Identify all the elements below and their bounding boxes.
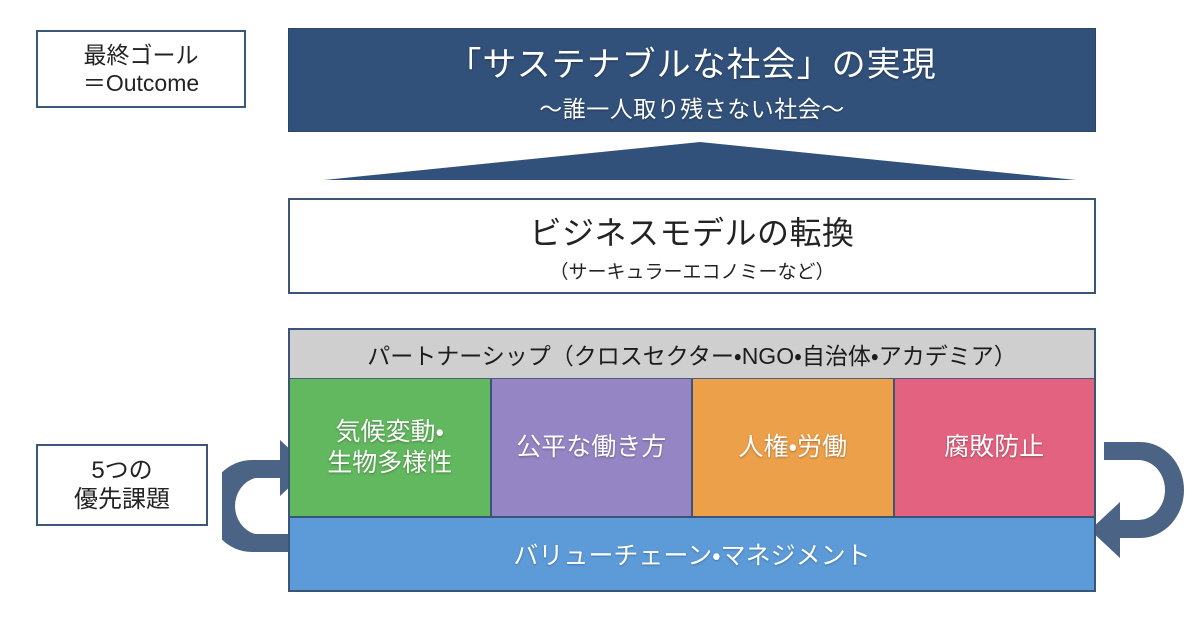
value-chain-label: バリューチェーン・マネジメント bbox=[513, 536, 870, 572]
goal-banner-subline: ～誰一人取り残さない社会～ bbox=[539, 90, 845, 124]
cycle-arrow-right-icon bbox=[1094, 424, 1184, 572]
five-priorities-label-line2: 優先課題 bbox=[74, 485, 170, 514]
priority-cell-line: 生物多様性 bbox=[327, 448, 452, 479]
goal-banner-headline: 「サステナブルな社会」の実現 bbox=[447, 37, 936, 86]
priority-cell-line: 気候変動・ bbox=[327, 417, 452, 448]
partnership-label: パートナーシップ（クロスセクター・NGO・自治体・アカデミア） bbox=[367, 337, 1016, 371]
five-priorities-label-line1: 5つの bbox=[91, 456, 152, 485]
priority-cell-climate-biodiversity[interactable]: 気候変動・ 生物多様性 bbox=[290, 379, 492, 516]
priority-cell-anti-corruption[interactable]: 腐敗防止 bbox=[895, 379, 1095, 516]
five-priorities-label: 5つの 優先課題 bbox=[36, 444, 208, 526]
value-chain-bar: バリューチェーン・マネジメント bbox=[290, 516, 1094, 590]
business-model-subline: （サーキュラーエコノミーなど） bbox=[549, 257, 834, 284]
partnership-bar: パートナーシップ（クロスセクター・NGO・自治体・アカデミア） bbox=[290, 330, 1094, 379]
final-goal-label-line1: 最終ゴール bbox=[84, 41, 199, 69]
goal-banner: 「サステナブルな社会」の実現 ～誰一人取り残さない社会～ bbox=[288, 28, 1096, 132]
priority-cell-line: 腐敗防止 bbox=[944, 432, 1044, 463]
diagram-canvas: 最終ゴール ＝Outcome 「サステナブルな社会」の実現 ～誰一人取り残さない… bbox=[0, 0, 1198, 643]
business-model-headline: ビジネスモデルの転換 bbox=[529, 208, 854, 254]
priority-cell-line: 公平な働き方 bbox=[516, 432, 666, 463]
final-goal-label: 最終ゴール ＝Outcome bbox=[36, 30, 246, 108]
up-chevron-icon bbox=[322, 140, 1078, 182]
priorities-block: パートナーシップ（クロスセクター・NGO・自治体・アカデミア） 気候変動・ 生物… bbox=[288, 328, 1096, 592]
business-model-box: ビジネスモデルの転換 （サーキュラーエコノミーなど） bbox=[288, 198, 1096, 294]
priority-row: 気候変動・ 生物多様性 公平な働き方 人権・労働 腐敗防止 bbox=[290, 379, 1094, 516]
priority-cell-line: 人権・労働 bbox=[738, 432, 847, 463]
priority-cell-fair-work[interactable]: 公平な働き方 bbox=[492, 379, 694, 516]
priority-cell-human-rights-labor[interactable]: 人権・労働 bbox=[693, 379, 895, 516]
final-goal-label-line2: ＝Outcome bbox=[83, 69, 199, 97]
